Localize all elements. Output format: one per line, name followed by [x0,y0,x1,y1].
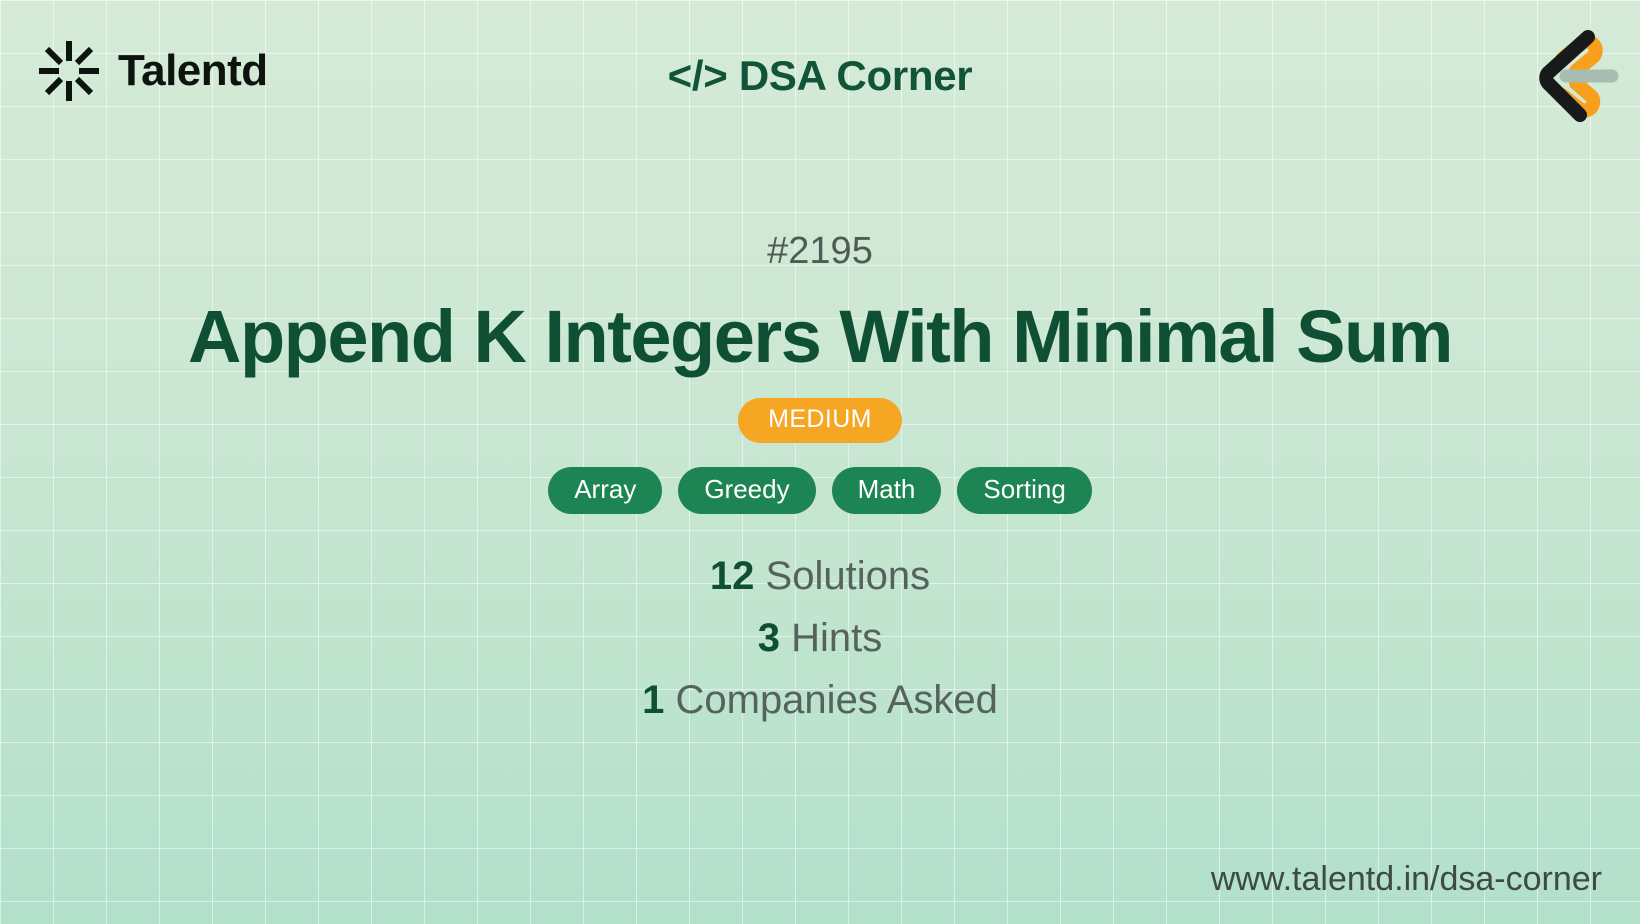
stat-value: 3 [758,616,780,660]
page-header: Talentd </> DSA Corner [0,0,1640,160]
stat-row: 12 Solutions [710,556,930,596]
stat-value: 1 [642,678,664,722]
page-title: </> DSA Corner [0,52,1640,100]
topic-tag[interactable]: Math [832,467,942,514]
page-footer: www.talentd.in/dsa-corner [1211,862,1602,896]
problem-content: #2195 Append K Integers With Minimal Sum… [0,160,1640,820]
stat-row: 1 Companies Asked [642,680,998,720]
topic-tag[interactable]: Array [548,467,662,514]
dsa-corner-problem-card: Talentd </> DSA Corner #2195 Append K In… [0,0,1640,924]
topic-tag[interactable]: Greedy [678,467,815,514]
stat-row: 3 Hints [758,618,883,658]
stat-label: Companies Asked [675,678,997,722]
stat-label: Hints [791,616,882,660]
footer-url[interactable]: www.talentd.in/dsa-corner [1211,860,1602,898]
topic-tag-list: Array Greedy Math Sorting [548,467,1092,514]
stat-value: 12 [710,554,755,598]
stat-label: Solutions [766,554,931,598]
leetcode-logo-icon [1520,25,1630,125]
topic-tag[interactable]: Sorting [957,467,1091,514]
problem-title: Append K Integers With Minimal Sum [128,298,1512,376]
problem-number: #2195 [767,232,873,270]
problem-stats: 12 Solutions 3 Hints 1 Companies Asked [642,556,998,720]
difficulty-badge: MEDIUM [738,398,902,443]
